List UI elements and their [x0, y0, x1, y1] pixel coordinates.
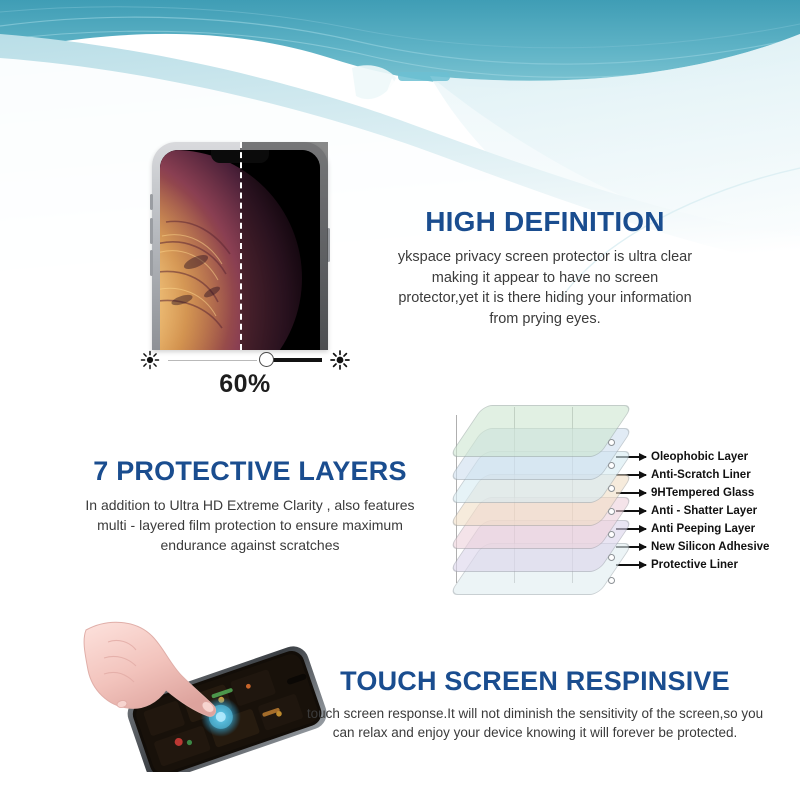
- layer-callout: Anti - Shatter Layer: [616, 502, 796, 520]
- layer-callout-list: Oleophobic Layer Anti-Scratch Liner 9HTe…: [616, 448, 796, 574]
- phone-volume-down-button: [150, 250, 153, 276]
- high-definition-body: ykspace privacy screen protector is ultr…: [390, 247, 700, 329]
- layer-callout: Protective Liner: [616, 556, 796, 574]
- layer-callout: Oleophobic Layer: [616, 448, 796, 466]
- layer-label: Anti Peeping Layer: [651, 523, 755, 535]
- slider-handle[interactable]: [259, 352, 274, 367]
- protective-layers-body: In addition to Ultra HD Extreme Clarity …: [70, 496, 430, 556]
- brightness-slider[interactable]: 60%: [140, 350, 350, 372]
- iphone-brightness-comparison: [152, 142, 328, 350]
- touch-screen-section: TOUCH SCREEN RESPINSIVE touch screen res…: [300, 665, 770, 742]
- layer-connector-dot: [608, 554, 615, 561]
- high-definition-heading: HIGH DEFINITION: [390, 205, 700, 239]
- layer-label: 9HTempered Glass: [651, 487, 754, 499]
- slider-track[interactable]: [168, 359, 322, 361]
- brightness-split-divider: [240, 142, 242, 350]
- arrow-right-icon: [616, 564, 646, 566]
- product-feature-poster: 60% HIGH DEFINITION ykspace privacy scre…: [0, 0, 800, 800]
- layer-label: New Silicon Adhesive: [651, 541, 769, 553]
- phone-volume-up-button: [150, 218, 153, 244]
- sun-low-icon: [140, 350, 160, 370]
- layer-callout: New Silicon Adhesive: [616, 538, 796, 556]
- layer-connector-dot: [608, 531, 615, 538]
- touch-screen-body: touch screen response.It will not dimini…: [300, 704, 770, 742]
- layer-connector-dot: [608, 485, 615, 492]
- slider-track-unfilled: [168, 360, 257, 362]
- phone-silent-switch: [150, 194, 153, 210]
- layer-stack-diagram: [432, 405, 622, 590]
- brightness-dim-overlay: [240, 142, 328, 350]
- brightness-value-label: 60%: [140, 370, 350, 399]
- high-definition-section: HIGH DEFINITION ykspace privacy screen p…: [390, 205, 700, 329]
- layer-connector-dot: [608, 577, 615, 584]
- layer-connector-dot: [608, 508, 615, 515]
- layer-callout: Anti Peeping Layer: [616, 520, 796, 538]
- layer-callout: Anti-Scratch Liner: [616, 466, 796, 484]
- sun-high-icon: [330, 350, 350, 370]
- touch-screen-heading: TOUCH SCREEN RESPINSIVE: [300, 665, 770, 698]
- layer-label: Protective Liner: [651, 559, 738, 571]
- layer-connector-dot: [608, 462, 615, 469]
- protective-layers-section: 7 PROTECTIVE LAYERS In addition to Ultra…: [70, 455, 430, 556]
- layer-callout: 9HTempered Glass: [616, 484, 796, 502]
- layer-label: Oleophobic Layer: [651, 451, 748, 463]
- layer-connector-dot: [608, 439, 615, 446]
- phone-frame: [152, 142, 328, 350]
- layer-label: Anti - Shatter Layer: [651, 505, 757, 517]
- layer-label: Anti-Scratch Liner: [651, 469, 751, 481]
- protective-layers-heading: 7 PROTECTIVE LAYERS: [70, 455, 430, 488]
